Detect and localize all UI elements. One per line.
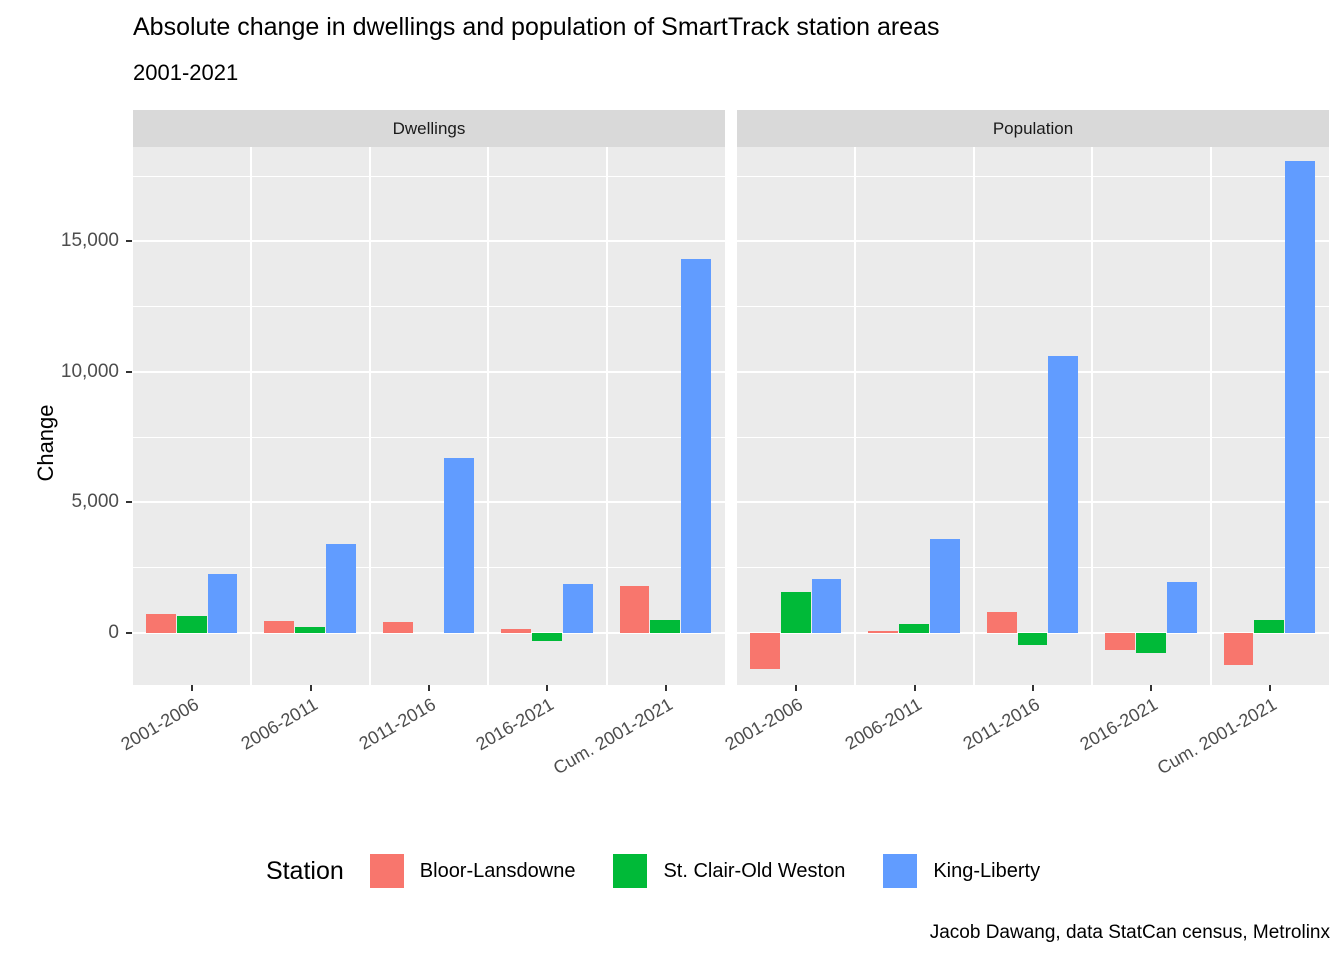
gridline-major [737, 371, 1329, 373]
bar [1048, 356, 1078, 633]
bar [146, 614, 176, 633]
gridline-major [133, 501, 725, 503]
legend-color-key [883, 854, 917, 888]
y-tick-mark [126, 501, 132, 503]
gridline-major [737, 240, 1329, 242]
bar [620, 586, 650, 633]
plot-area [133, 147, 725, 685]
legend-color-key [370, 854, 404, 888]
y-axis-title: Change [33, 383, 59, 503]
bar [501, 629, 531, 633]
gridline-major [133, 371, 725, 373]
gridline-major [737, 501, 1329, 503]
bar [1285, 161, 1315, 632]
x-tick-label: 2006-2011 [120, 694, 321, 822]
legend-item: Bloor-Lansdowne [370, 854, 576, 888]
x-tick-label: 2011-2016 [842, 694, 1043, 822]
bar [1105, 633, 1135, 650]
bar [532, 633, 562, 642]
x-tick-label: 2011-2016 [238, 694, 439, 822]
legend-color-key [613, 854, 647, 888]
y-tick-label: 10,000 [61, 361, 119, 383]
gridline-vertical [606, 147, 608, 685]
legend-item: King-Liberty [883, 854, 1040, 888]
legend-item: St. Clair-Old Weston [613, 854, 845, 888]
bar [650, 620, 680, 633]
x-tick-label: Cum. 2001-2021 [1079, 694, 1280, 822]
chart-caption: Jacob Dawang, data StatCan census, Metro… [930, 922, 1330, 944]
legend-items: Bloor-LansdowneSt. Clair-Old WestonKing-… [370, 854, 1078, 888]
chart-root: Absolute change in dwellings and populat… [0, 0, 1344, 960]
gridline-minor [133, 176, 725, 177]
gridline-minor [133, 306, 725, 307]
gridline-major [133, 240, 725, 242]
bar [868, 631, 898, 633]
facet-panel-population: Population [737, 110, 1329, 685]
x-tick-mark [191, 685, 193, 691]
gridline-vertical [487, 147, 489, 685]
bar [987, 612, 1017, 633]
x-tick-mark [546, 685, 548, 691]
legend-title: Station [266, 857, 344, 886]
facet-strip-label: Dwellings [133, 110, 725, 147]
x-tick-mark [1269, 685, 1271, 691]
x-tick-label: 2016-2021 [357, 694, 558, 822]
gridline-minor [737, 176, 1329, 177]
gridline-vertical [854, 147, 856, 685]
gridline-vertical [1091, 147, 1093, 685]
y-tick-mark [126, 371, 132, 373]
bar [1224, 633, 1254, 666]
x-tick-label: 2001-2006 [2, 694, 203, 822]
gridline-minor [737, 437, 1329, 438]
legend-label: King-Liberty [933, 860, 1040, 883]
gridline-minor [737, 306, 1329, 307]
x-tick-mark [310, 685, 312, 691]
bar [295, 627, 325, 632]
bar [444, 458, 474, 633]
gridline-vertical [369, 147, 371, 685]
bar [1167, 582, 1197, 633]
bar [1254, 620, 1284, 632]
legend-label: St. Clair-Old Weston [663, 860, 845, 883]
facet-strip-label: Population [737, 110, 1329, 147]
x-tick-mark [914, 685, 916, 691]
bar [326, 544, 356, 633]
x-tick-mark [1032, 685, 1034, 691]
legend-label: Bloor-Lansdowne [420, 860, 576, 883]
gridline-minor [737, 567, 1329, 568]
x-tick-mark [1150, 685, 1152, 691]
x-tick-label: 2016-2021 [961, 694, 1162, 822]
bar [781, 592, 811, 633]
bar [563, 584, 593, 632]
chart-subtitle: 2001-2021 [133, 60, 238, 86]
bar [177, 616, 207, 633]
x-tick-mark [795, 685, 797, 691]
y-tick-mark [126, 240, 132, 242]
gridline-vertical [1210, 147, 1212, 685]
bar [681, 259, 711, 632]
y-tick-label: 15,000 [61, 230, 119, 252]
y-tick-mark [126, 632, 132, 634]
bar [1136, 633, 1166, 653]
gridline-vertical [973, 147, 975, 685]
bar [1018, 633, 1048, 645]
x-tick-mark [428, 685, 430, 691]
gridline-minor [133, 437, 725, 438]
chart-title: Absolute change in dwellings and populat… [133, 13, 940, 42]
bar [812, 579, 842, 633]
facet-panel-dwellings: Dwellings [133, 110, 725, 685]
bar [264, 621, 294, 633]
bar [899, 624, 929, 633]
y-tick-label: 0 [108, 622, 119, 644]
bar [930, 539, 960, 633]
gridline-vertical [250, 147, 252, 685]
bar [383, 622, 413, 632]
gridline-minor [133, 567, 725, 568]
legend: Station Bloor-LansdowneSt. Clair-Old Wes… [0, 840, 1344, 902]
bar [208, 574, 238, 633]
y-tick-label: 5,000 [71, 491, 119, 513]
x-tick-label: 2006-2011 [724, 694, 925, 822]
plot-area [737, 147, 1329, 685]
bar [750, 633, 780, 670]
x-tick-mark [665, 685, 667, 691]
